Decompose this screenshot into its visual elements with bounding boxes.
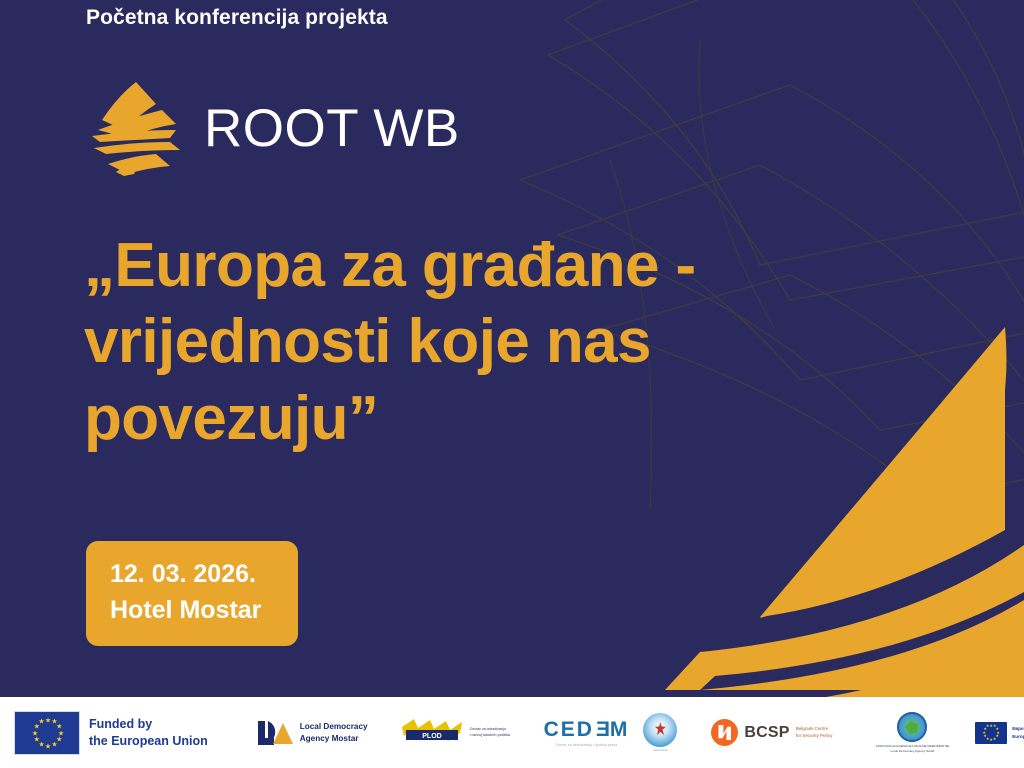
partner-logo-strip: ★★★★★★★★★★★★ Funded by the European Unio… [0, 697, 1024, 768]
eu-funding-logo: ★★★★★★★★★★★★ Funded by the European Unio… [14, 707, 208, 759]
eu-funding-line-1: Funded by [89, 716, 208, 733]
partner-logo-cedem: CEDEM Centar za demokratiju i ljudska pr… [544, 707, 630, 759]
event-date: 12. 03. 2026. [110, 557, 274, 593]
event-poster: Početna konferencija projekta ROOT WB „E… [0, 0, 1024, 768]
lda-mark-icon [256, 718, 294, 748]
european-movement-sub-2: European Movement North Macedonia [1012, 733, 1024, 741]
root-wb-leaf-mark-icon [84, 80, 188, 176]
headline-line-1: „Europa za građane - [84, 228, 804, 304]
agency-sub-2: Local Democracy Agency South [876, 749, 950, 754]
lda-mostar-line-2: Agency Mostar [300, 733, 368, 744]
lda-mostar-line-1: Local Democracy [300, 721, 368, 732]
plod-sub-2: i razvoj lokalnih politika [470, 733, 522, 739]
headline-line-3: povezuju” [84, 381, 804, 457]
brand-logo-text: ROOT WB [204, 102, 460, 155]
local-democracy-agency-icon [897, 712, 927, 742]
svg-text:PLOD: PLOD [422, 733, 441, 740]
cedem-subtitle: Centar za demokratiju i ljudska prava [544, 743, 630, 747]
headline-line-2: vrijednosti koje nas [84, 304, 804, 380]
eu-flag-icon: ★★★★★★★★★★★★ [14, 711, 80, 755]
bcsp-sub-2: for Security Policy [796, 733, 840, 739]
brand-logo: ROOT WB [84, 80, 460, 176]
cedem-emblem-subtitle: Crna Gora [653, 748, 667, 752]
partner-logo-european-movement: ★★★★★★★★★★★★ Европско движење Северна Ма… [975, 707, 1024, 759]
cedem-word-b: E [594, 719, 610, 740]
plod-mark-icon: PLOD [402, 719, 464, 747]
partner-logo-lda-mostar: Local Democracy Agency Mostar [256, 707, 368, 759]
cedem-word-c: M [610, 718, 630, 741]
partner-logo-local-democracy-agency: ASOCIJACIJA AGENCIJA LOKALNE DEMOKRATIJE… [876, 707, 950, 759]
bcsp-mark-icon [711, 719, 738, 746]
partner-logo-cedem-emblem: Crna Gora [643, 707, 677, 759]
bcsp-word: BCSP [744, 724, 789, 742]
event-details-badge: 12. 03. 2026. Hotel Mostar [86, 541, 298, 646]
partner-logo-plod: PLOD Centar za istraživanje i razvoj lok… [402, 707, 522, 759]
page-title: „Europa za građane - vrijednosti koje na… [84, 228, 804, 457]
eyebrow-text: Početna konferencija projekta [86, 6, 388, 30]
event-venue: Hotel Mostar [110, 593, 274, 629]
european-movement-flag-icon: ★★★★★★★★★★★★ [975, 722, 1007, 744]
cedem-emblem-icon [643, 713, 677, 747]
cedem-word-a: CED [544, 718, 594, 741]
european-movement-sub-1: Европско движење Северна Македонија [1012, 725, 1024, 733]
partner-logo-bcsp: BCSP Belgrade Centre for Security Policy [711, 707, 839, 759]
agency-sub-1: ASOCIJACIJA AGENCIJA LOKALNE DEMOKRATIJE [876, 744, 950, 749]
eu-funding-line-2: the European Union [89, 733, 208, 750]
